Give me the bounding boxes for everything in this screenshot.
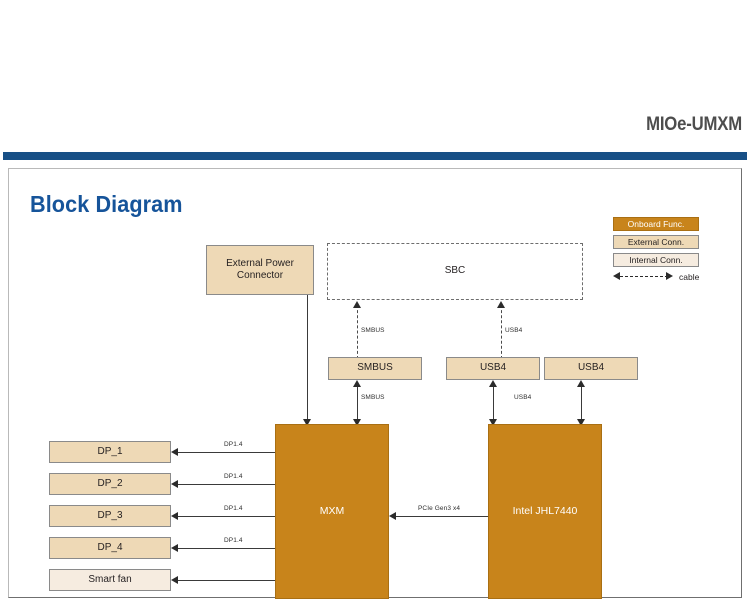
arrow-pcie-icon: [389, 512, 396, 520]
arrow-dp-4-icon: [171, 544, 178, 552]
label-usb4-bus: USB4: [514, 394, 531, 401]
block-dp-2: DP_2: [49, 473, 171, 495]
line-dp-2: [178, 484, 275, 485]
legend-arrow-right-icon: [666, 272, 673, 280]
block-external-power-connector-label: External Power Connector: [222, 258, 298, 283]
block-dp-3-label: DP_3: [97, 510, 122, 523]
arrow-dp-1-icon: [171, 448, 178, 456]
block-intel-jhl7440: Intel JHL7440: [488, 424, 602, 599]
document-header: MIOe-UMXM: [0, 0, 750, 168]
arrow-usb4-bus-2-up-icon: [577, 380, 585, 387]
block-intel-jhl7440-label: Intel JHL7440: [513, 505, 578, 518]
line-dp-1: [178, 452, 275, 453]
block-dp-1-label: DP_1: [97, 446, 122, 459]
block-dp-2-label: DP_2: [97, 478, 122, 491]
legend-arrow-left-icon: [613, 272, 620, 280]
arrow-usb4-to-sbc-icon: [497, 301, 505, 308]
label-usb4-cable: USB4: [505, 327, 522, 334]
legend-item-cable: cable: [613, 271, 699, 283]
header-rule: [3, 152, 747, 160]
arrow-smbus-to-sbc-icon: [353, 301, 361, 308]
legend-item-onboard: Onboard Func.: [613, 217, 699, 231]
label-pcie: PCIe Gen3 x4: [418, 505, 460, 512]
label-dp-2: DP1.4: [224, 473, 243, 480]
block-mxm: MXM: [275, 424, 389, 599]
section-title: Block Diagram: [30, 191, 183, 218]
block-dp-4: DP_4: [49, 537, 171, 559]
block-external-power-connector: External Power Connector: [206, 245, 314, 295]
cable-usb4-dashed: [501, 305, 502, 359]
legend-dashed-line: [620, 276, 668, 277]
arrow-dp-3-icon: [171, 512, 178, 520]
block-dp-4-label: DP_4: [97, 542, 122, 555]
block-dp-1: DP_1: [49, 441, 171, 463]
label-dp-3: DP1.4: [224, 505, 243, 512]
legend-cable-label: cable: [679, 271, 699, 283]
label-smbus-bus: SMBUS: [361, 394, 385, 401]
block-dp-3: DP_3: [49, 505, 171, 527]
block-smbus-connector-label: SMBUS: [357, 362, 393, 375]
block-sbc: SBC: [327, 243, 583, 300]
block-smart-fan: Smart fan: [49, 569, 171, 591]
block-usb4-connector-1-label: USB4: [480, 362, 506, 375]
label-smbus-cable: SMBUS: [361, 327, 385, 334]
block-usb4-connector-2-label: USB4: [578, 362, 604, 375]
block-smbus-connector: SMBUS: [328, 357, 422, 380]
epc-line2: Connector: [237, 270, 283, 281]
legend: Onboard Func. External Conn. Internal Co…: [613, 217, 699, 283]
block-diagram-card: Block Diagram Onboard Func. External Con…: [8, 168, 742, 598]
line-pcie: [396, 516, 488, 517]
block-sbc-label: SBC: [445, 265, 466, 278]
block-smart-fan-label: Smart fan: [88, 574, 131, 587]
line-smart-fan: [178, 580, 275, 581]
label-dp-1: DP1.4: [224, 441, 243, 448]
arrow-usb4-bus-1-up-icon: [489, 380, 497, 387]
arrow-dp-2-icon: [171, 480, 178, 488]
cable-smbus-dashed: [357, 305, 358, 359]
page-title: MIOe-UMXM: [646, 114, 742, 136]
line-power-epc-to-mxm: [307, 295, 308, 426]
block-usb4-connector-1: USB4: [446, 357, 540, 380]
block-usb4-connector-2: USB4: [544, 357, 638, 380]
legend-item-external: External Conn.: [613, 235, 699, 249]
legend-item-internal: Internal Conn.: [613, 253, 699, 267]
label-dp-4: DP1.4: [224, 537, 243, 544]
line-dp-4: [178, 548, 275, 549]
arrow-smbus-bus-up-icon: [353, 380, 361, 387]
epc-line1: External Power: [226, 258, 294, 269]
arrow-smart-fan-icon: [171, 576, 178, 584]
block-mxm-label: MXM: [320, 505, 345, 518]
line-dp-3: [178, 516, 275, 517]
